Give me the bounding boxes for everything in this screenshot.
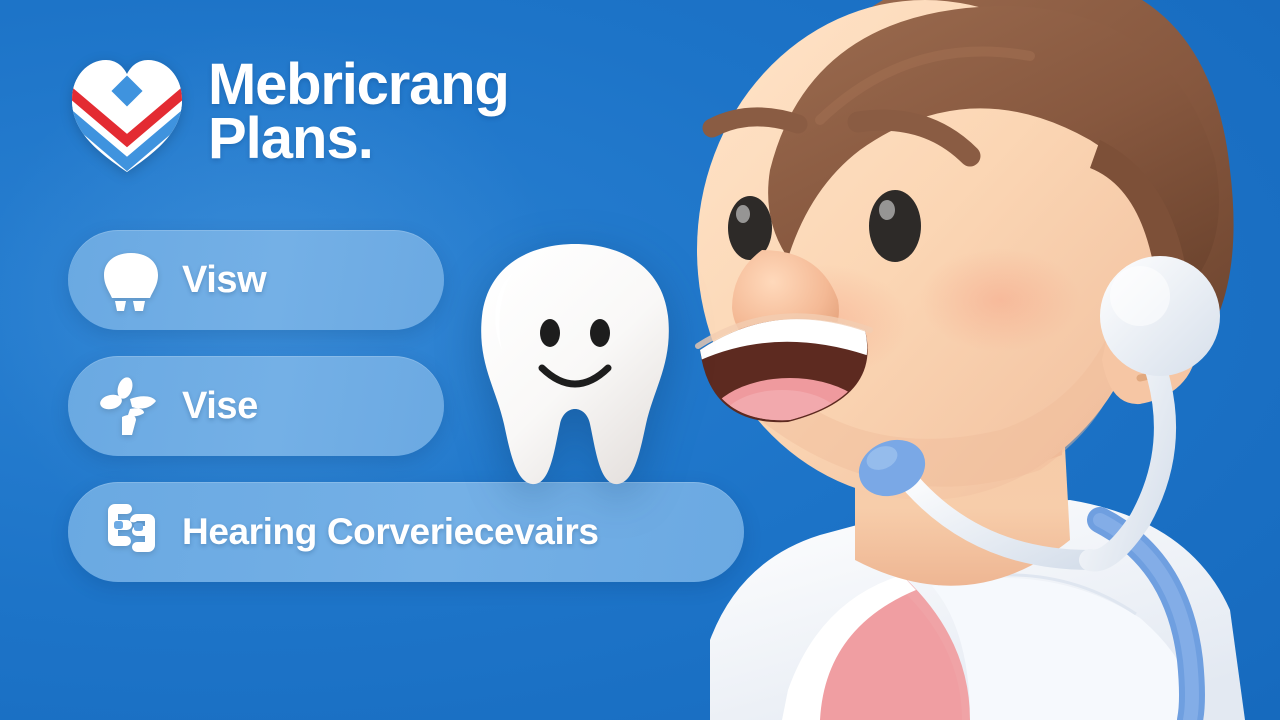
heart-shield-chevron-logo bbox=[68, 54, 186, 174]
ear-block-icon bbox=[100, 501, 162, 563]
brand-line-1: Mebricrang bbox=[208, 58, 509, 112]
benefit-pill-vision[interactable]: Vise bbox=[68, 356, 444, 456]
poster-stage: Mebricrang Plans. Visw bbox=[0, 0, 1280, 720]
smiling-tooth-mascot bbox=[470, 238, 680, 493]
benefit-pill-label: Hearing Corveriecevairs bbox=[182, 511, 599, 553]
eye-petal-icon bbox=[100, 375, 162, 437]
brand-wordmark: Mebricrang Plans. bbox=[208, 54, 509, 166]
brand-line-2: Plans. bbox=[208, 112, 509, 166]
tooth-icon bbox=[100, 249, 162, 311]
benefit-pill-hearing[interactable]: Hearing Corveriecevairs bbox=[68, 482, 744, 582]
benefit-pill-label: Visw bbox=[182, 259, 266, 302]
benefit-pill-label: Vise bbox=[182, 385, 258, 428]
benefit-pill-dental[interactable]: Visw bbox=[68, 230, 444, 330]
brand-lockup: Mebricrang Plans. bbox=[68, 54, 780, 174]
